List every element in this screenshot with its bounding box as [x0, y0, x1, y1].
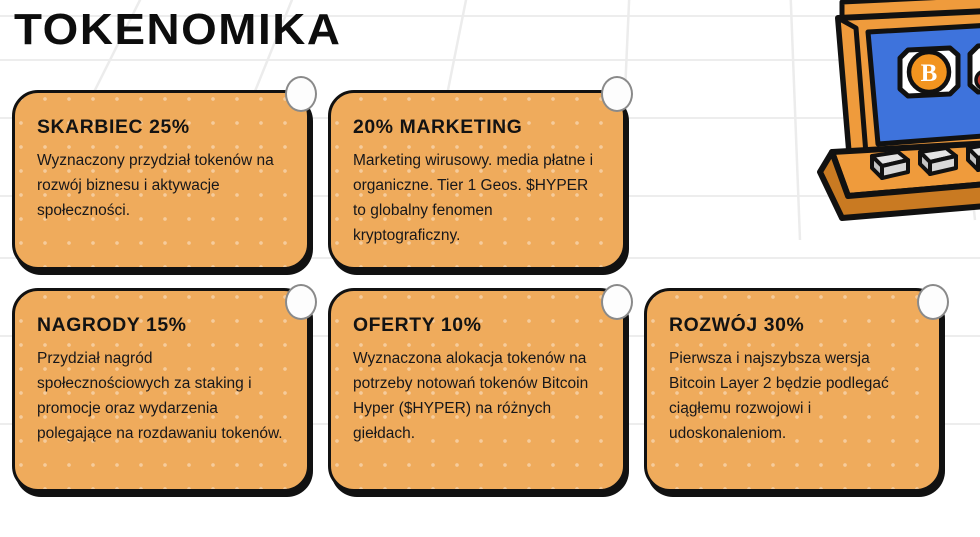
card-body: Przydział nagród społecznościowych za st…	[37, 346, 285, 446]
reel-cherries-icon	[970, 44, 980, 92]
slide-canvas: TOKENOMIKA SKARBIEC 25% Wyznaczony przyd…	[0, 0, 980, 537]
tokenomics-card-marketing[interactable]: 20% MARKETING Marketing wirusowy. media …	[328, 90, 626, 270]
card-body: Wyznaczony przydział tokenów na rozwój b…	[37, 148, 285, 223]
tokenomics-card-nagrody[interactable]: NAGRODY 15% Przydział nagród społecznośc…	[12, 288, 310, 492]
card-body: Wyznaczona alokacja tokenów na potrzeby …	[353, 346, 601, 446]
tokenomics-card-skarbiec[interactable]: SKARBIEC 25% Wyznaczony przydział tokenó…	[12, 90, 310, 270]
slot-machine-illustration: B	[780, 0, 980, 236]
card-heading: ROZWÓJ 30%	[669, 315, 922, 337]
card-heading: NAGRODY 15%	[37, 315, 290, 337]
card-heading: 20% MARKETING	[353, 117, 606, 139]
card-heading: OFERTY 10%	[353, 315, 606, 337]
card-heading: SKARBIEC 25%	[37, 117, 290, 139]
page-title: TOKENOMIKA	[14, 8, 341, 52]
slot-lights-icon	[856, 0, 980, 4]
reel-bitcoin-icon: B	[900, 48, 958, 96]
tokenomics-card-rozwoj[interactable]: ROZWÓJ 30% Pierwsza i najszybsza wersja …	[644, 288, 942, 492]
slot-buttons-icon	[872, 144, 980, 178]
card-body: Pierwsza i najszybsza wersja Bitcoin Lay…	[669, 346, 917, 446]
card-notch-circle-icon	[917, 284, 949, 320]
card-notch-circle-icon	[601, 76, 633, 112]
card-notch-circle-icon	[285, 284, 317, 320]
card-notch-circle-icon	[601, 284, 633, 320]
tokenomics-card-oferty[interactable]: OFERTY 10% Wyznaczona alokacja tokenów n…	[328, 288, 626, 492]
svg-text:B: B	[921, 60, 938, 87]
card-body: Marketing wirusowy. media płatne i organ…	[353, 148, 601, 248]
card-notch-circle-icon	[285, 76, 317, 112]
